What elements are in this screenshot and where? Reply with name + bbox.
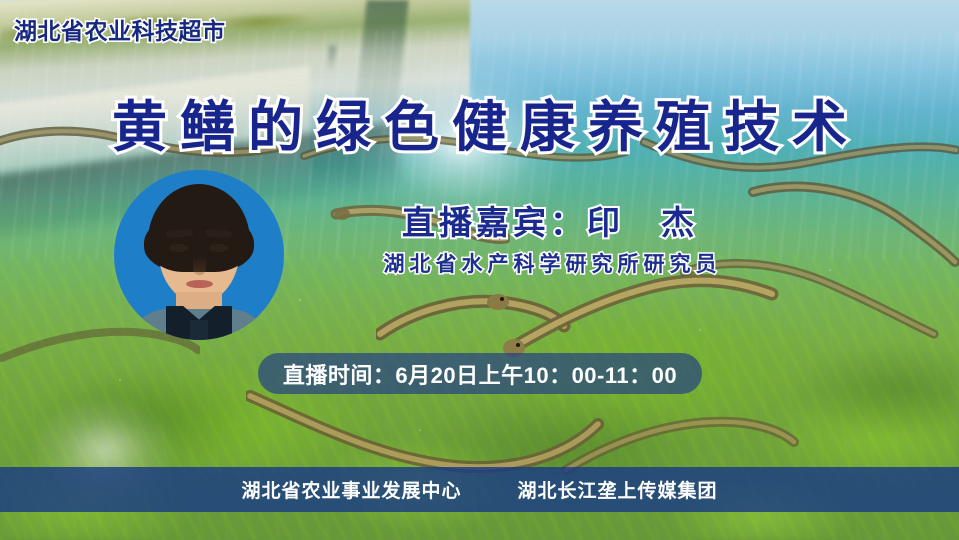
page-title: 黄鳝的绿色健康养殖技术 — [0, 82, 959, 162]
guest-name: 直播嘉宾：印 杰 — [330, 196, 770, 244]
avatar-nose — [193, 256, 206, 275]
avatar — [114, 170, 284, 340]
avatar-eye-left — [169, 244, 189, 252]
avatar-eye-right — [209, 244, 229, 252]
footer-bar: 湖北省农业事业发展中心 湖北长江垄上传媒集团 — [0, 467, 959, 512]
broadcast-time-text: 直播时间：6月20日上午10：00-11：00 — [283, 358, 677, 390]
guest-title: 湖北省水产科学研究所研究员 — [330, 248, 770, 278]
footer-org-left: 湖北省农业事业发展中心 — [241, 476, 461, 503]
footer-org-right: 湖北长江垄上传媒集团 — [518, 476, 718, 503]
avatar-mouth — [186, 280, 213, 288]
broadcast-time-badge: 直播时间：6月20日上午10：00-11：00 — [258, 353, 702, 394]
page-logo: 湖北省农业科技超市 — [14, 12, 226, 46]
live-stream-poster: 湖北省农业科技超市 黄鳝的绿色健康养殖技术 直播嘉宾：印 杰 湖北省水产科学研究… — [0, 0, 959, 540]
avatar-placket — [190, 320, 208, 340]
